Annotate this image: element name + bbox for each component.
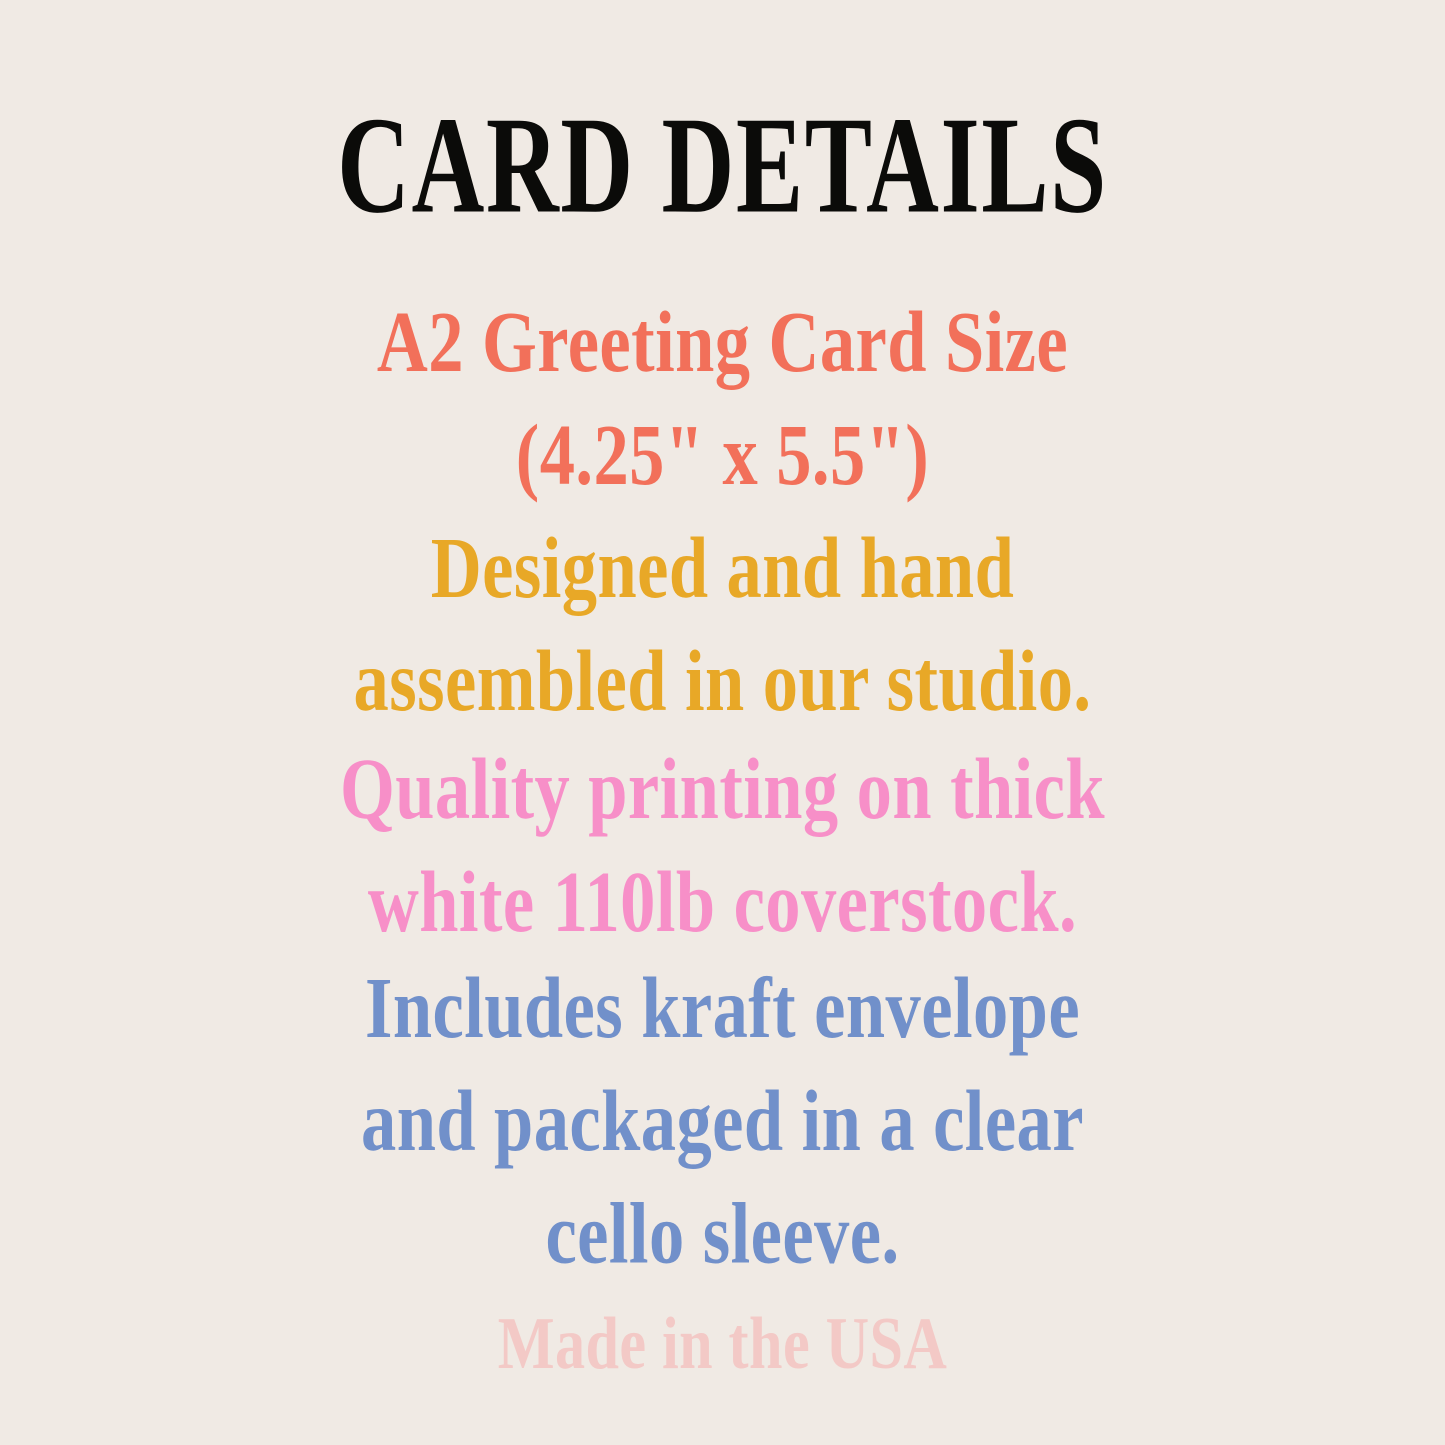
detail-line: cello sleeve.	[196, 1178, 1250, 1291]
detail-line: (4.25" x 5.5")	[196, 399, 1250, 512]
detail-line: assembled in our studio.	[196, 625, 1250, 738]
detail-line: white 110lb coverstock.	[196, 846, 1250, 959]
detail-line: Includes kraft envelope	[196, 952, 1250, 1065]
detail-line: A2 Greeting Card Size	[196, 286, 1250, 399]
detail-printing-coverstock: Quality printing on thick white 110lb co…	[101, 733, 1344, 959]
detail-line: Quality printing on thick	[196, 733, 1250, 846]
detail-line: and packaged in a clear	[196, 1065, 1250, 1178]
page-title: CARD DETAILS	[145, 96, 1301, 237]
detail-line: Designed and hand	[196, 512, 1250, 625]
detail-designed-assembled: Designed and hand assembled in our studi…	[101, 512, 1344, 738]
detail-envelope-packaging: Includes kraft envelope and packaged in …	[101, 952, 1344, 1291]
detail-card-size: A2 Greeting Card Size (4.25" x 5.5")	[101, 286, 1344, 512]
made-in-usa-label: Made in the USA	[101, 1300, 1344, 1389]
card-details-graphic: CARD DETAILS A2 Greeting Card Size (4.25…	[0, 0, 1445, 1445]
